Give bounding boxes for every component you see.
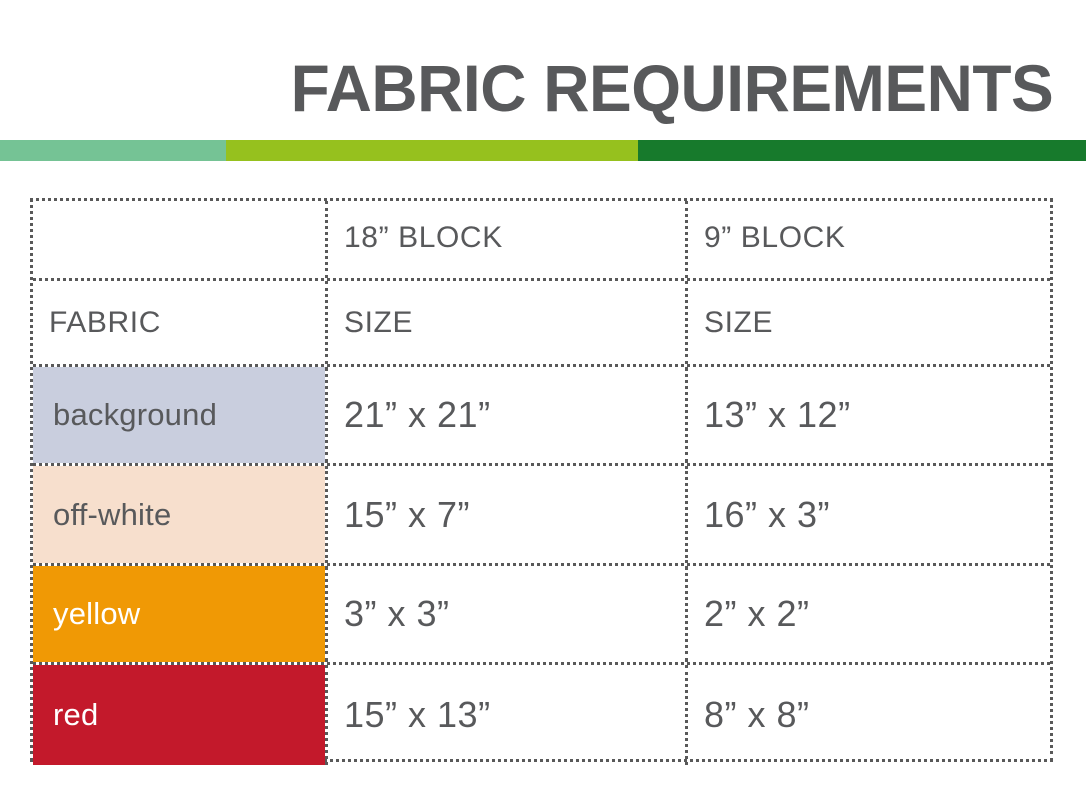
size-value-18-off-white: 15” x 7” (344, 494, 470, 536)
group-header-18-block-label: 18” BLOCK (344, 221, 503, 255)
page-title: FABRIC REQUIREMENTS (0, 52, 1053, 124)
fabric-swatch-cell-red: red (33, 665, 328, 765)
size-cell-9-off-white: 16” x 3” (688, 466, 1050, 563)
fabric-swatch-fill-off-white: off-white (33, 466, 325, 563)
fabric-label-off-white: off-white (53, 497, 171, 533)
group-header-cell-blank (33, 201, 328, 278)
group-header-cell-18-block: 18” BLOCK (328, 201, 688, 278)
fabric-swatch-fill-yellow: yellow (33, 566, 325, 662)
column-header-cell-size-18: SIZE (328, 281, 688, 364)
fabric-label-red: red (53, 697, 98, 733)
table-row: off-white 15” x 7” 16” x 3” (33, 466, 1050, 566)
size-cell-9-yellow: 2” x 2” (688, 566, 1050, 662)
fabric-requirements-table: 18” BLOCK 9” BLOCK FABRIC SIZE SIZE back… (30, 198, 1053, 762)
table-row: red 15” x 13” 8” x 8” (33, 665, 1050, 765)
fabric-swatch-cell-yellow: yellow (33, 566, 328, 662)
fabric-swatch-fill-background: background (33, 367, 325, 463)
size-cell-18-yellow: 3” x 3” (328, 566, 688, 662)
table-group-header-row: 18” BLOCK 9” BLOCK (33, 201, 1050, 281)
size-cell-9-red: 8” x 8” (688, 665, 1050, 765)
color-bar-segment-dark-green (638, 140, 1086, 161)
fabric-swatch-fill-red: red (33, 665, 325, 765)
table-row: background 21” x 21” 13” x 12” (33, 367, 1050, 466)
page-root: FABRIC REQUIREMENTS 18” BLOCK 9” BLOCK F… (0, 0, 1086, 808)
color-bar (0, 140, 1086, 161)
group-header-9-block-label: 9” BLOCK (704, 221, 846, 255)
column-header-size-18-label: SIZE (344, 306, 413, 340)
group-header-cell-9-block: 9” BLOCK (688, 201, 1050, 278)
size-value-18-background: 21” x 21” (344, 394, 491, 436)
table-row: yellow 3” x 3” 2” x 2” (33, 566, 1050, 665)
size-value-9-yellow: 2” x 2” (704, 593, 810, 635)
size-value-9-off-white: 16” x 3” (704, 494, 830, 536)
column-header-cell-size-9: SIZE (688, 281, 1050, 364)
column-header-cell-fabric: FABRIC (33, 281, 328, 364)
size-value-18-red: 15” x 13” (344, 694, 491, 736)
page-title-text: FABRIC REQUIREMENTS (290, 52, 1053, 124)
table-column-header-row: FABRIC SIZE SIZE (33, 281, 1050, 367)
size-value-9-background: 13” x 12” (704, 394, 851, 436)
size-cell-18-off-white: 15” x 7” (328, 466, 688, 563)
size-cell-18-red: 15” x 13” (328, 665, 688, 765)
fabric-swatch-cell-off-white: off-white (33, 466, 328, 563)
column-header-fabric-label: FABRIC (49, 306, 161, 340)
size-value-18-yellow: 3” x 3” (344, 593, 450, 635)
color-bar-segment-sage-green (0, 140, 226, 161)
size-cell-9-background: 13” x 12” (688, 367, 1050, 463)
fabric-label-background: background (53, 397, 217, 433)
size-value-9-red: 8” x 8” (704, 694, 810, 736)
column-header-size-9-label: SIZE (704, 306, 773, 340)
size-cell-18-background: 21” x 21” (328, 367, 688, 463)
fabric-swatch-cell-background: background (33, 367, 328, 463)
color-bar-segment-lime-green (226, 140, 638, 161)
fabric-label-yellow: yellow (53, 596, 140, 632)
